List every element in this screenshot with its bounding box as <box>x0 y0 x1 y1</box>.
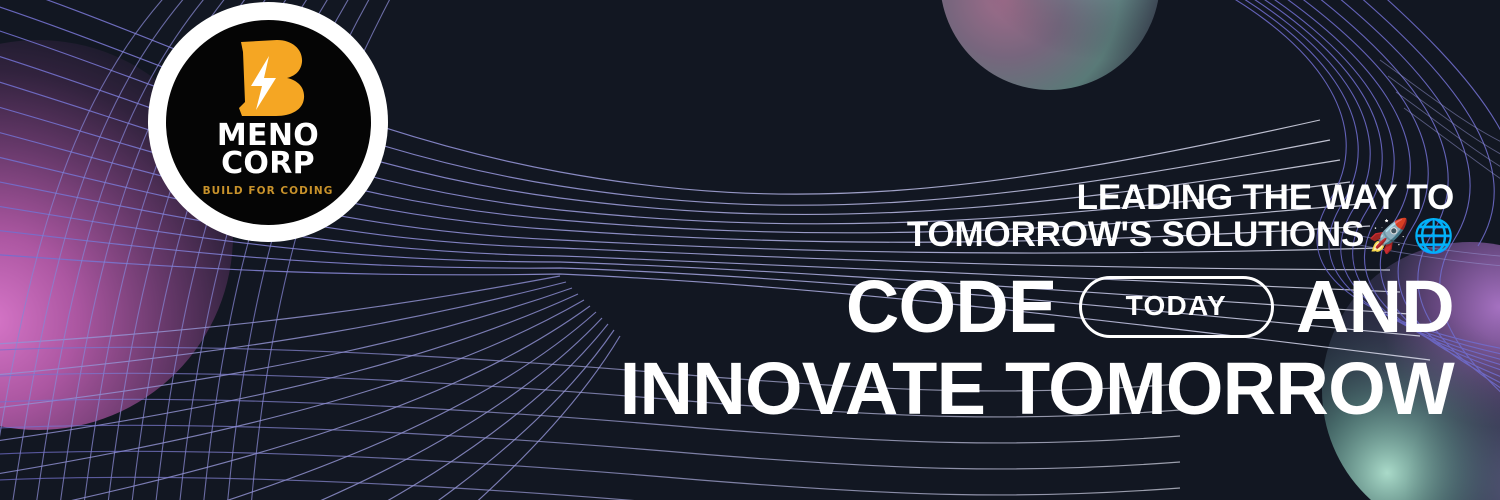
kicker-line-2-text: TOMORROW'S SOLUTIONS <box>907 217 1364 254</box>
decorative-sphere-top-right <box>940 0 1160 90</box>
rocket-icon: 🚀 <box>1368 219 1409 252</box>
logo-disc: MENO CORP BUILD FOR CODING <box>166 20 371 225</box>
globe-icon: 🌐 <box>1413 219 1454 252</box>
headline-row-2: INNOVATE TOMORROW <box>444 352 1454 426</box>
headline-word-and: AND <box>1296 270 1454 344</box>
today-badge[interactable]: TODAY <box>1079 276 1274 338</box>
logo-tagline: BUILD FOR CODING <box>203 185 334 197</box>
logo-word-secondary: CORP <box>221 150 315 178</box>
kicker-line-2-row: TOMORROW'S SOLUTIONS 🚀 🌐 <box>444 217 1454 254</box>
headline-row-1: CODE TODAY AND <box>444 270 1454 344</box>
kicker-line-1: LEADING THE WAY TO <box>444 180 1454 217</box>
lightning-bolt-b-icon <box>229 38 307 118</box>
promo-banner: MENO CORP BUILD FOR CODING LEADING THE W… <box>0 0 1500 500</box>
company-logo: MENO CORP BUILD FOR CODING <box>148 2 388 242</box>
headline-word-code: CODE <box>846 270 1057 344</box>
headline-block: LEADING THE WAY TO TOMORROW'S SOLUTIONS … <box>444 180 1454 426</box>
